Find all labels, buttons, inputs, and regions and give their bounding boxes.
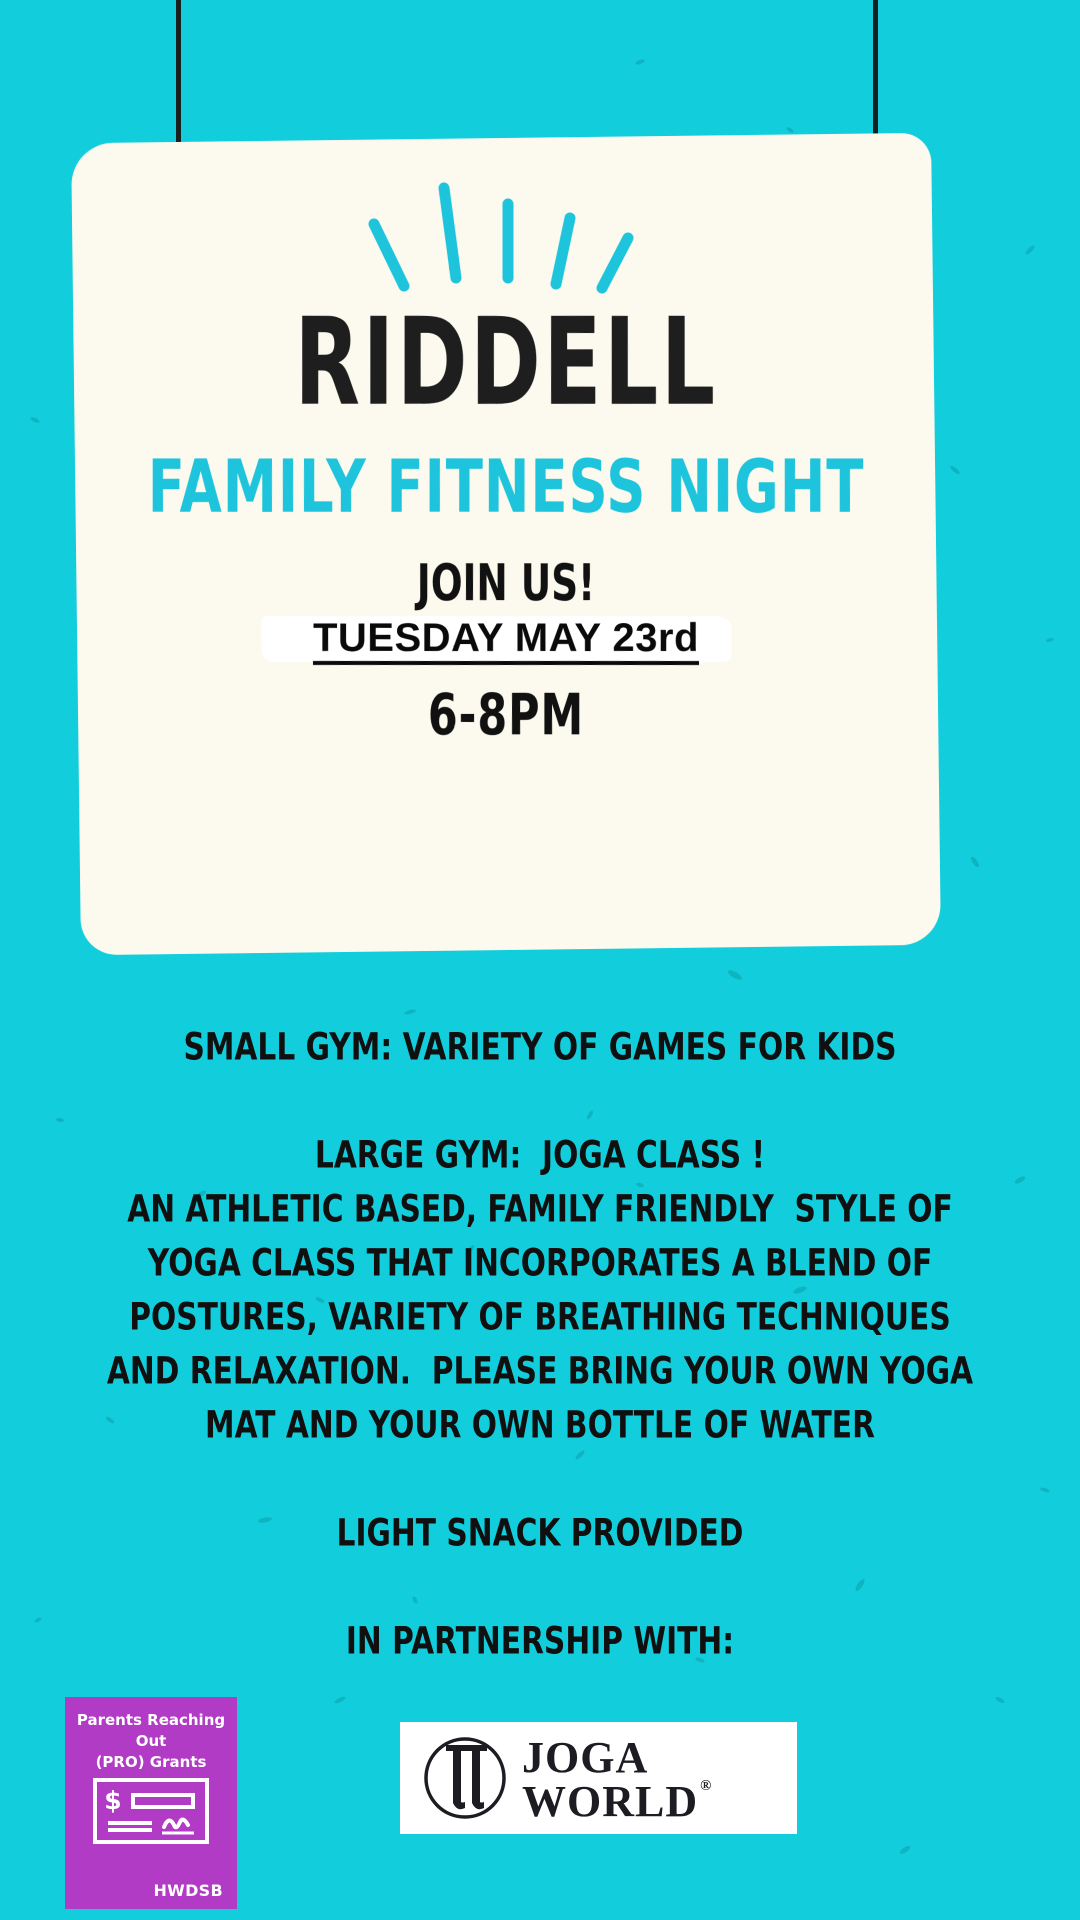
detail-line: IN PARTNERSHIP WITH: <box>54 1610 1026 1672</box>
pro-grants-title-line-1: Parents Reaching Out <box>77 1711 225 1750</box>
pro-grants-title-line-2: (PRO) Grants <box>96 1753 207 1771</box>
joga-world-text: JOGA WORLD <box>522 1733 698 1826</box>
detail-line: SMALL GYM: VARIETY OF GAMES FOR KIDS <box>54 1016 1026 1078</box>
event-date: TUESDAY MAY 23rd <box>313 616 699 665</box>
announcement-card-content: RIDDELL FAMILY FITNESS NIGHT JOIN US! TU… <box>76 138 936 950</box>
detail-line: YOGA CLASS THAT INCORPORATES A BLEND OF <box>54 1232 1026 1294</box>
pro-grants-title: Parents Reaching Out (PRO) Grants <box>71 1710 231 1773</box>
cheque-icon: $ <box>92 1777 210 1845</box>
sparkle-rays-icon <box>356 166 656 296</box>
event-details-copy: SMALL GYM: VARIETY OF GAMES FOR KIDS LAR… <box>0 1020 1080 1668</box>
detail-spacer <box>0 1560 1080 1614</box>
joga-monogram-icon <box>422 1735 508 1821</box>
detail-line: MAT AND YOUR OWN BOTTLE OF WATER <box>54 1394 1026 1456</box>
pro-grants-logo: Parents Reaching Out (PRO) Grants $ HWDS… <box>65 1697 237 1909</box>
detail-spacer <box>0 1074 1080 1128</box>
detail-line: LARGE GYM: JOGA CLASS ! <box>54 1124 1026 1186</box>
registered-trademark-icon: ® <box>700 1778 712 1794</box>
detail-spacer <box>0 1452 1080 1506</box>
event-time: 6-8PM <box>136 682 876 748</box>
page-title: RIDDELL <box>153 302 858 423</box>
detail-line: LIGHT SNACK PROVIDED <box>54 1502 1026 1564</box>
event-subtitle: FAMILY FITNESS NIGHT <box>128 450 885 523</box>
join-us-text: JOIN US! <box>141 554 872 613</box>
detail-line: AND RELAXATION. PLEASE BRING YOUR OWN YO… <box>54 1340 1026 1402</box>
announcement-card: RIDDELL FAMILY FITNESS NIGHT JOIN US! TU… <box>71 133 941 955</box>
detail-line: POSTURES, VARIETY OF BREATHING TECHNIQUE… <box>54 1286 1026 1348</box>
svg-text:$: $ <box>104 1786 121 1815</box>
joga-world-wordmark: JOGA WORLD® <box>522 1736 797 1824</box>
poster-canvas: RIDDELL FAMILY FITNESS NIGHT JOIN US! TU… <box>0 0 1080 1920</box>
detail-line: AN ATHLETIC BASED, FAMILY FRIENDLY STYLE… <box>54 1178 1026 1240</box>
event-date-row: TUESDAY MAY 23rd <box>76 616 936 672</box>
hwdsb-label: HWDSB <box>153 1881 223 1900</box>
joga-world-logo: JOGA WORLD® <box>400 1722 797 1834</box>
